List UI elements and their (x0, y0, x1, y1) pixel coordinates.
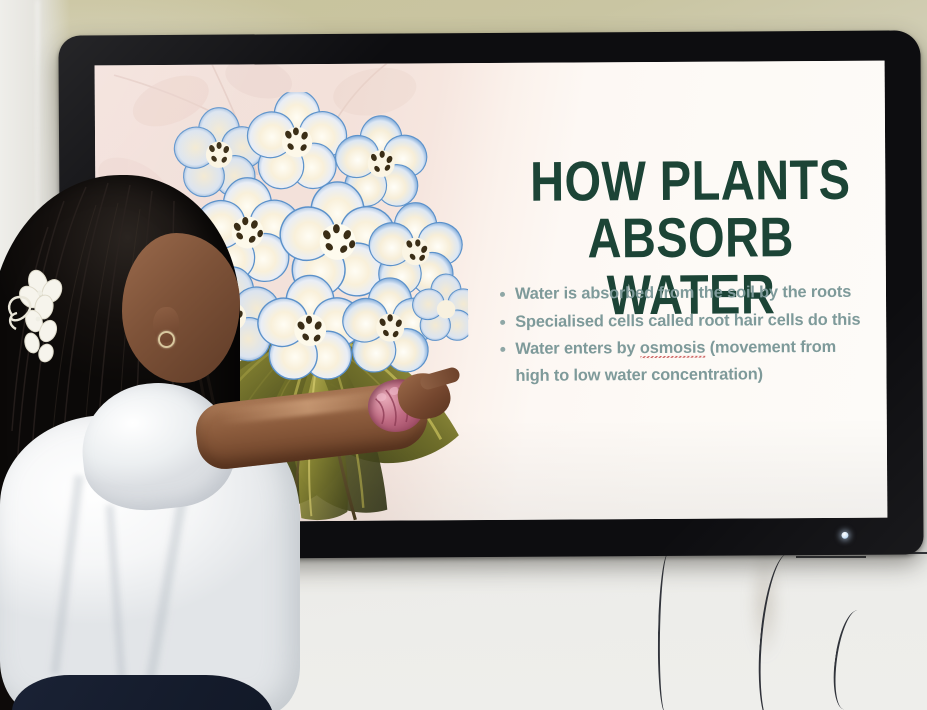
power-indicator-led (841, 532, 848, 539)
student-pointing-at-screen (0, 175, 460, 710)
school-skirt (12, 675, 274, 710)
slide-title-line-1: HOW PLANTS (526, 150, 854, 209)
hoop-earring (158, 331, 175, 348)
spellcheck-flagged-word: osmosis (640, 339, 706, 358)
flower-hair-clip-icon (4, 263, 78, 368)
bullet-text: Water is absorbed from the soil by the r… (515, 283, 851, 303)
slide-bullet-item: Specialised cells called root hair cells… (494, 306, 874, 335)
bullet-text: Specialised cells called root hair cells… (515, 310, 860, 330)
bullet-text: Water enters by (515, 339, 640, 358)
slide-bullet-item: Water enters by osmosis (movement from h… (494, 334, 874, 389)
slide-bullet-list: Water is absorbed from the soil by the r… (494, 279, 875, 391)
slide-bullet-item: Water is absorbed from the soil by the r… (494, 279, 874, 308)
face-profile (122, 233, 240, 383)
classroom-photo-scene: HOW PLANTS ABSORB WATER Water is absorbe… (0, 0, 927, 710)
